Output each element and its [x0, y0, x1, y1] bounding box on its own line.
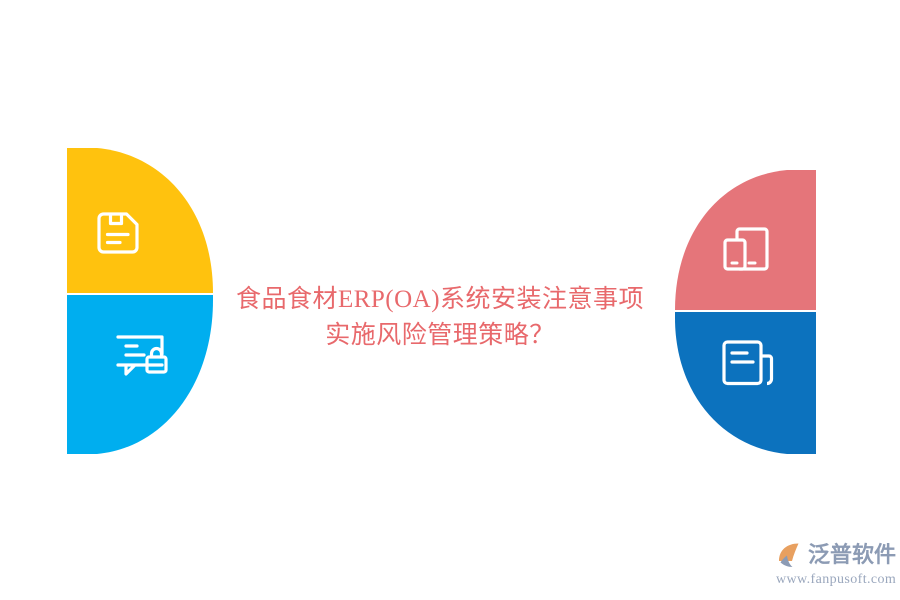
- right-bottom-segment: [675, 312, 816, 454]
- banner-canvas: 食品食材ERP(OA)系统安装注意事项 实施风险管理策略？ 泛普软件 www.f…: [0, 0, 900, 600]
- fanpu-logo-icon: [776, 540, 806, 570]
- watermark-brand-row: 泛普软件: [776, 540, 896, 570]
- left-bottom-segment: [67, 295, 213, 454]
- right-half-circle-graphic: [675, 170, 816, 454]
- watermark: 泛普软件 www.fanpusoft.com: [776, 540, 896, 592]
- page-title-line-2: 实施风险管理策略？: [215, 318, 665, 354]
- watermark-brand-text: 泛普软件: [808, 542, 896, 568]
- page-title: 食品食材ERP(OA)系统安装注意事项 实施风险管理策略？: [215, 282, 665, 354]
- left-half-circle-graphic: [67, 148, 213, 454]
- left-top-segment: [67, 148, 213, 293]
- page-title-line-1: 食品食材ERP(OA)系统安装注意事项: [215, 282, 665, 318]
- watermark-url: www.fanpusoft.com: [776, 571, 896, 589]
- right-top-segment: [675, 170, 816, 310]
